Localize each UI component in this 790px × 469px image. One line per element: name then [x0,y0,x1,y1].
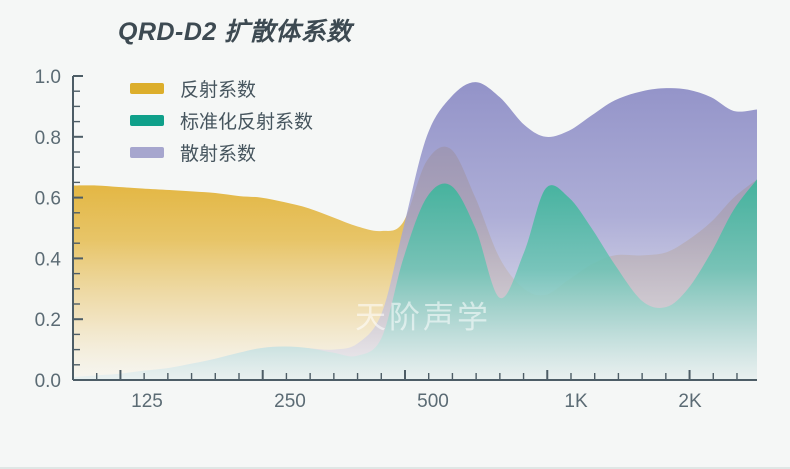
x-tick-label: 1K [564,391,588,412]
legend-item-scattering[interactable]: 散射系数 [130,136,313,168]
y-tick-label: 0.4 [35,249,62,270]
legend-swatch-absorption [130,83,164,94]
chart-card: QRD-D2 扩散体系数 [0,0,790,469]
legend-label-absorption: 反射系数 [180,75,256,102]
y-tick-label: 1.0 [35,67,61,88]
legend-item-normalized-diffusion[interactable]: 标准化反射系数 [130,104,313,136]
y-tick-label: 0.8 [35,128,61,149]
chart-legend: 反射系数 标准化反射系数 散射系数 [130,72,313,168]
x-axis-labels: 1252505001K2K [131,391,702,412]
legend-swatch-scattering [130,147,164,158]
legend-label-scattering: 散射系数 [180,139,256,166]
x-tick-label: 500 [417,391,449,412]
legend-item-absorption[interactable]: 反射系数 [130,72,313,104]
y-tick-label: 0.6 [35,189,61,210]
y-tick-label: 0.2 [35,310,61,331]
x-tick-label: 250 [274,391,306,412]
y-axis-labels: 0.00.20.40.60.81.0 [35,67,62,392]
legend-label-normalized-diffusion: 标准化反射系数 [180,107,313,134]
legend-swatch-normalized-diffusion [130,115,164,126]
y-tick-label: 0.0 [35,371,61,392]
chart-plot-area: 0.00.20.40.60.81.0 1252505001K2K [0,0,790,469]
x-tick-label: 125 [131,391,163,412]
x-tick-label: 2K [678,391,702,412]
